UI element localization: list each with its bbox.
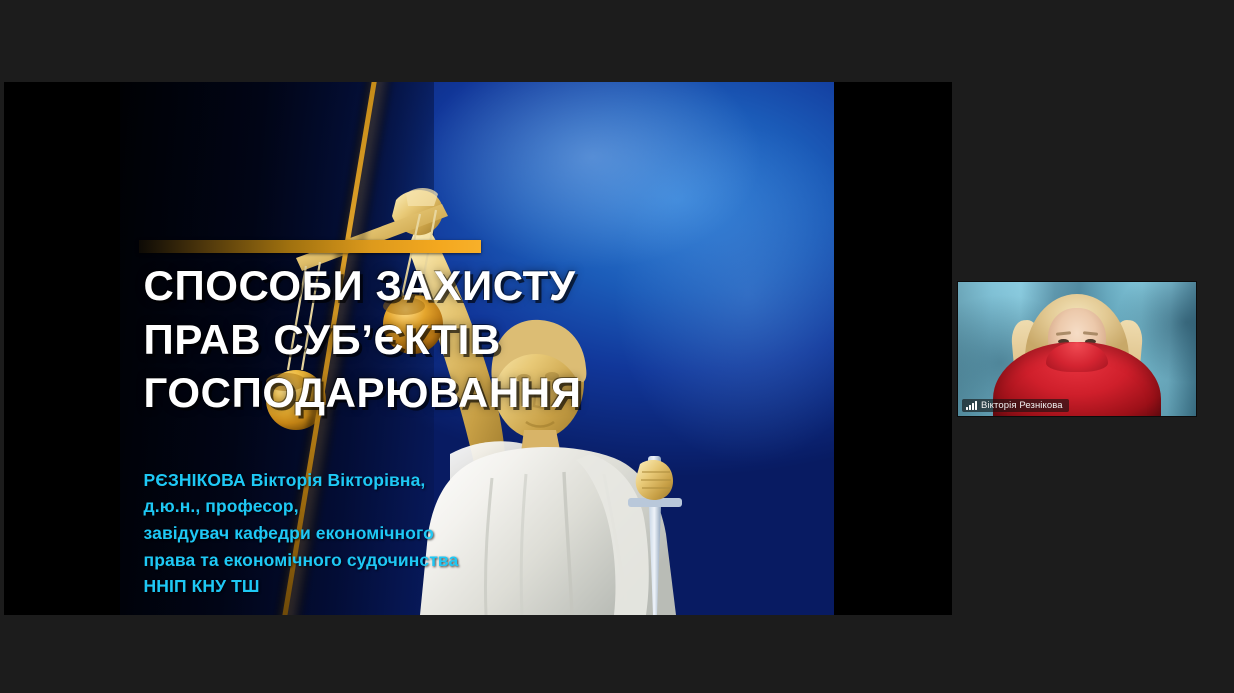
- participant-video-tile[interactable]: Вікторія Резнікова: [957, 281, 1197, 417]
- participant-name-text: Вікторія Резнікова: [981, 401, 1063, 411]
- eyebrow-right: [1083, 331, 1098, 336]
- eyebrow-left: [1056, 331, 1071, 336]
- slide-gold-accent-bar: [139, 240, 482, 253]
- participant-name-label: Вікторія Резнікова: [962, 399, 1069, 413]
- presentation-slide[interactable]: СПОСОБИ ЗАХИСТУ ПРАВ СУБ’ЄКТІВ ГОСПОДАРЮ…: [120, 82, 834, 615]
- signal-strength-icon: [966, 401, 977, 410]
- shared-screen-region[interactable]: СПОСОБИ ЗАХИСТУ ПРАВ СУБ’ЄКТІВ ГОСПОДАРЮ…: [4, 82, 952, 615]
- participant-video-feed: [958, 282, 1196, 416]
- video-conference-stage: СПОСОБИ ЗАХИСТУ ПРАВ СУБ’ЄКТІВ ГОСПОДАРЮ…: [0, 0, 1234, 693]
- slide-presenter-credentials: РЄЗНІКОВА Вікторія Вікторівна, д.ю.н., п…: [144, 467, 701, 600]
- slide-title: СПОСОБИ ЗАХИСТУ ПРАВ СУБ’ЄКТІВ ГОСПОДАРЮ…: [144, 259, 658, 420]
- turtleneck-collar: [1046, 342, 1108, 372]
